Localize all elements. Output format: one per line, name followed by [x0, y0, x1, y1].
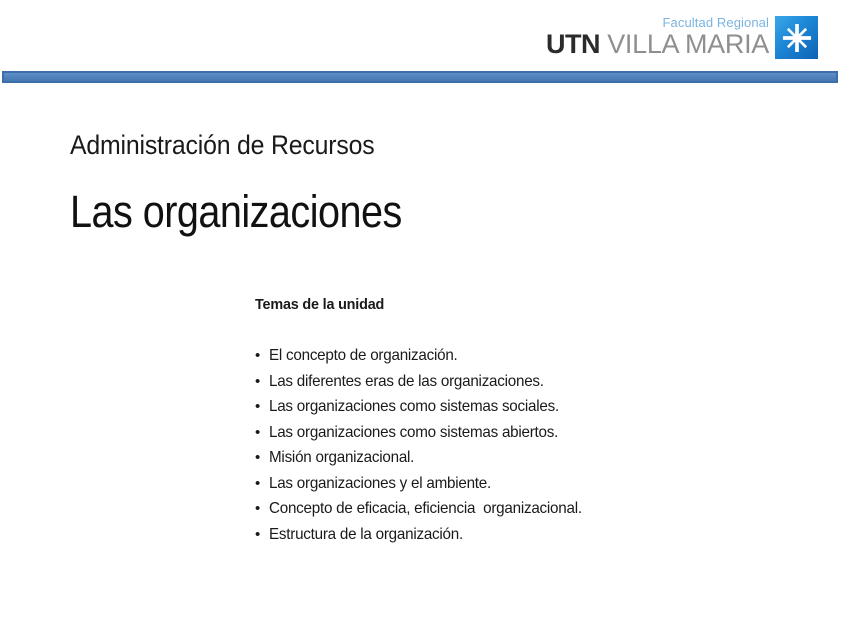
list-item: •Concepto de eficacia, eficiencia organi…: [255, 496, 795, 522]
logo-faculty-line: Facultad Regional: [663, 16, 770, 29]
list-item: •Las organizaciones como sistemas social…: [255, 394, 795, 420]
bullet-icon: •: [255, 445, 269, 471]
header-divider-bar-inner: [4, 73, 836, 81]
list-item-label: Las diferentes eras de las organizacione…: [269, 369, 544, 395]
list-item-label: Las organizaciones como sistemas sociale…: [269, 394, 559, 420]
bullet-icon: •: [255, 343, 269, 369]
bullet-icon: •: [255, 522, 269, 548]
bullet-icon: •: [255, 420, 269, 446]
bullet-icon: •: [255, 471, 269, 497]
list-item-label: Estructura de la organización.: [269, 522, 463, 548]
list-item: •Las organizaciones y el ambiente.: [255, 471, 795, 497]
topics-heading: Temas de la unidad: [255, 296, 773, 313]
list-item: •Estructura de la organización.: [255, 522, 795, 548]
list-item: •Misión organizacional.: [255, 445, 795, 471]
topics-list: •El concepto de organización.•Las difere…: [255, 343, 795, 547]
header-divider-bar: [2, 71, 838, 83]
course-title: Administración de Recursos: [70, 130, 374, 161]
logo-wordmark: Facultad Regional UTN VILLA MARIA: [546, 16, 769, 59]
slide-body: Temas de la unidad •El concepto de organ…: [255, 296, 795, 547]
bullet-icon: •: [255, 394, 269, 420]
slide-canvas: Facultad Regional UTN VILLA MARIA Admini…: [0, 0, 848, 636]
bullet-icon: •: [255, 496, 269, 522]
utn-logo: Facultad Regional UTN VILLA MARIA: [546, 16, 818, 59]
logo-name-line: UTN VILLA MARIA: [546, 31, 769, 58]
list-item-label: El concepto de organización.: [269, 343, 458, 369]
sun-burst-icon: [775, 16, 818, 59]
slide-title: Las organizaciones: [70, 186, 402, 238]
list-item-label: Las organizaciones y el ambiente.: [269, 471, 491, 497]
logo-acronym: UTN: [546, 29, 600, 59]
logo-city: VILLA MARIA: [600, 29, 769, 59]
list-item-label: Las organizaciones como sistemas abierto…: [269, 420, 558, 446]
list-item: •Las diferentes eras de las organizacion…: [255, 369, 795, 395]
bullet-icon: •: [255, 369, 269, 395]
list-item: •Las organizaciones como sistemas abiert…: [255, 420, 795, 446]
list-item-label: Misión organizacional.: [269, 445, 414, 471]
list-item-label: Concepto de eficacia, eficiencia organiz…: [269, 496, 582, 522]
list-item: •El concepto de organización.: [255, 343, 795, 369]
